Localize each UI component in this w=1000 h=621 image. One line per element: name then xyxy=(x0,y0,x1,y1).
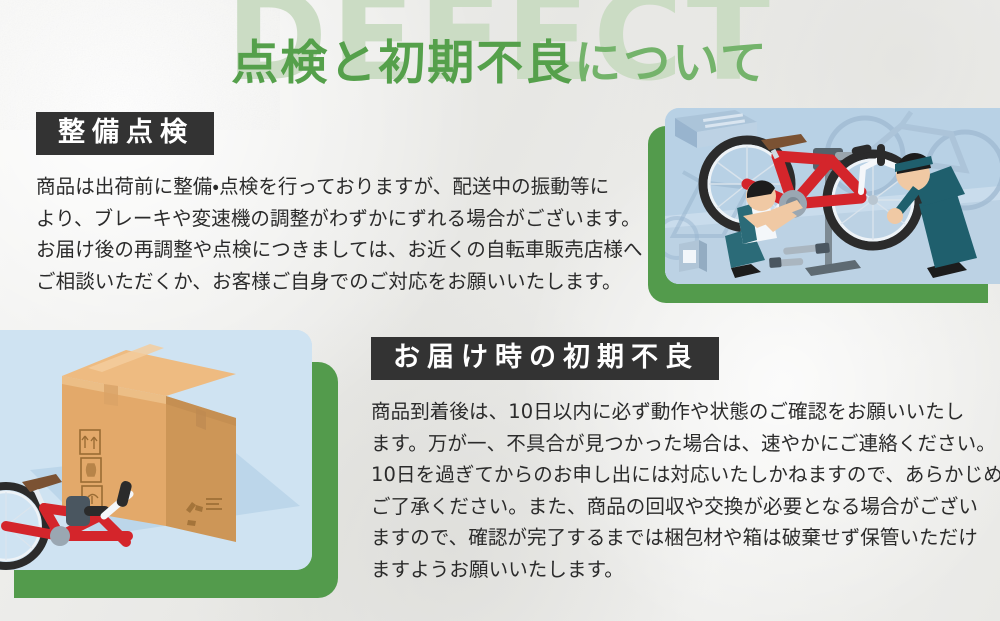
page-background: DEFECT 点検と初期不良について 整備点検 商品は出荷前に整備・点検を行って… xyxy=(0,0,1000,621)
section-maintenance: 整備点検 商品は出荷前に整備・点検を行っておりますが、配送中の振動等に より、ブ… xyxy=(36,112,643,297)
badge-wrap-maintenance: 整備点検 xyxy=(36,112,643,155)
body-line: 商品は出荷前に整備・点検を行っておりますが、配送中の振動等に xyxy=(36,171,643,203)
section-badge-maintenance: 整備点検 xyxy=(36,112,214,155)
image-card-bicycle-repair xyxy=(648,108,1000,303)
body-line: ますようお願いいたします。 xyxy=(371,554,1000,586)
body-line: ご相談いただくか、お客様ご自身でのご対応をお願いいたします。 xyxy=(36,266,643,298)
badge-wrap-defect: お届け時の初期不良 xyxy=(371,337,1000,380)
page-title-soft: について xyxy=(574,36,769,91)
section-body-defect: 商品到着後は、10日以内に必ず動作や状態のご確認をお願いいたし ます。万が一、不… xyxy=(371,396,1000,585)
page-header: DEFECT 点検と初期不良について xyxy=(0,0,1000,104)
section-badge-defect: お届け時の初期不良 xyxy=(371,337,719,380)
section-body-maintenance: 商品は出荷前に整備・点検を行っておりますが、配送中の振動等に より、ブレーキや変… xyxy=(36,171,643,297)
packed-bicycle-box-illustration xyxy=(0,330,312,570)
image-card-packed-box xyxy=(0,330,338,598)
body-line: ます。万が一、不具合が見つかった場合は、速やかにご連絡ください。 xyxy=(371,428,1000,460)
body-line: 10日を過ぎてからのお申し出には対応いたしかねますので、あらかじめ xyxy=(371,459,1000,491)
body-line: お届け後の再調整や点検につきましては、お近くの自転車販売店様へ xyxy=(36,234,643,266)
body-line: 商品到着後は、10日以内に必ず動作や状態のご確認をお願いいたし xyxy=(371,396,1000,428)
page-title: 点検と初期不良について xyxy=(0,24,1000,93)
body-line: ご了承ください。また、商品の回収や交換が必要となる場合がござい xyxy=(371,491,1000,523)
bicycle-repair-illustration xyxy=(665,108,1000,284)
section-initial-defect: お届け時の初期不良 商品到着後は、10日以内に必ず動作や状態のご確認をお願いいた… xyxy=(371,337,1000,585)
body-line: ますので、確認が完了するまでは梱包材や箱は破棄せず保管いただけ xyxy=(371,522,1000,554)
page-title-strong: 点検と初期不良 xyxy=(231,36,574,91)
body-line: より、ブレーキや変速機の調整がわずかにずれる場合がございます。 xyxy=(36,203,643,235)
